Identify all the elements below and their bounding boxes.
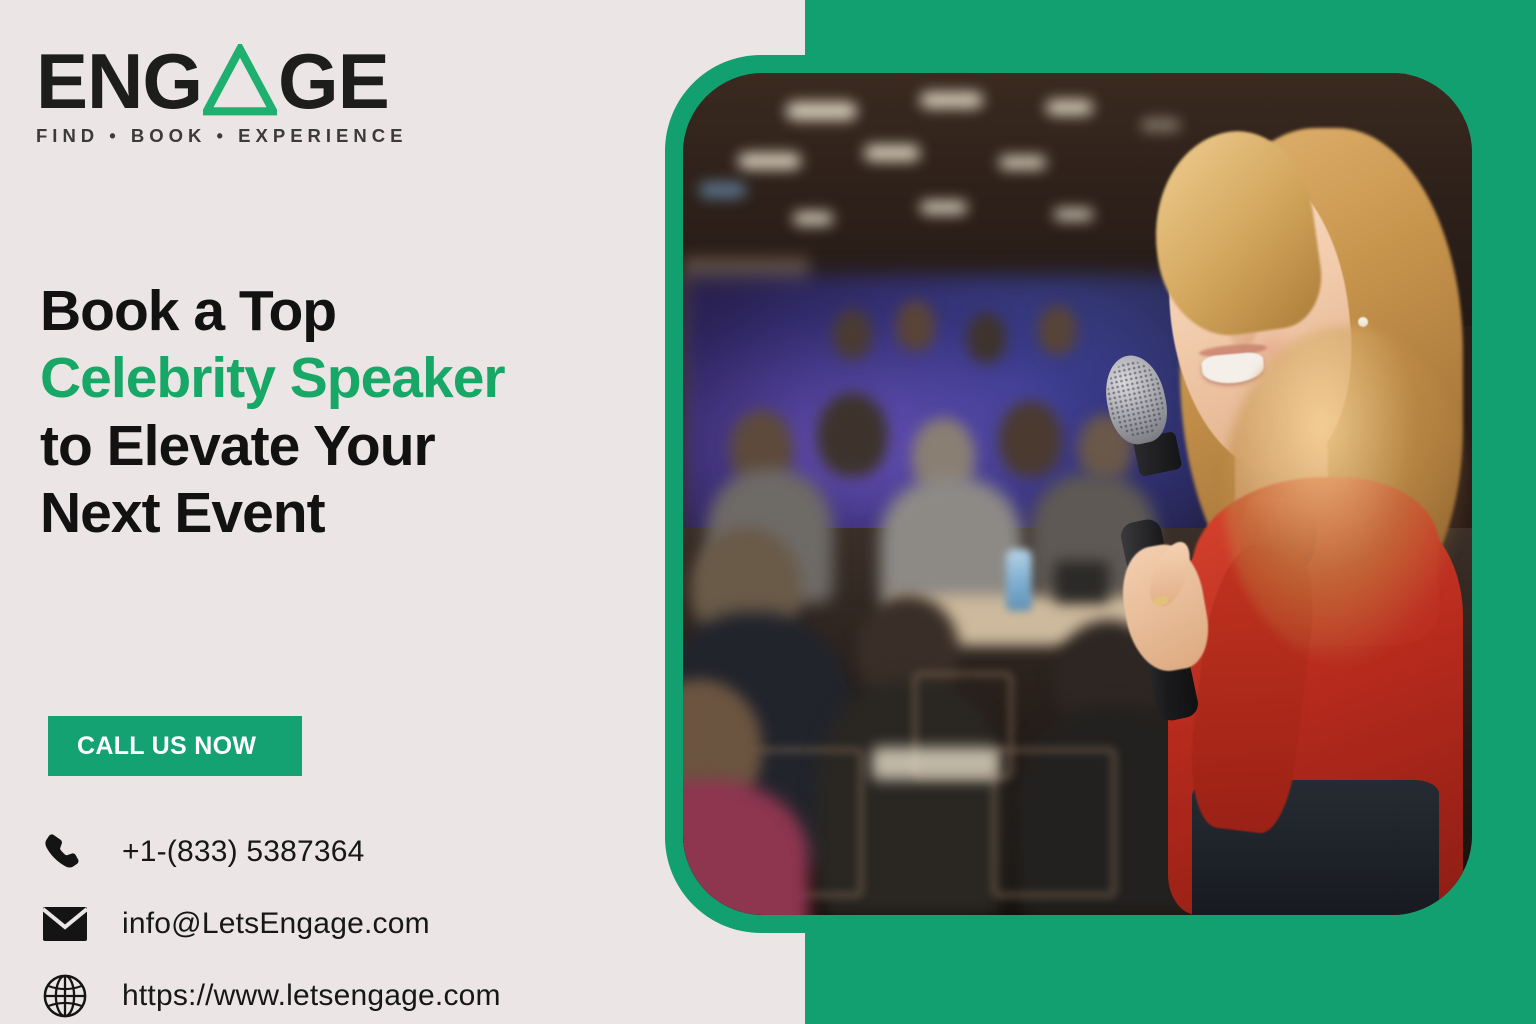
earring <box>1358 317 1368 327</box>
contact-list: +1-(833) 5387364 info@LetsEngage.com <box>42 816 501 1024</box>
logo-wordmark: ENG GE <box>36 44 407 118</box>
left-content: ENG GE FIND • BOOK • EXPERIENCE Book a T… <box>0 0 805 1024</box>
hair-waves <box>1223 326 1469 663</box>
headline-line-1: Book a Top <box>40 278 505 345</box>
promo-banner: ENG GE FIND • BOOK • EXPERIENCE Book a T… <box>0 0 1536 1024</box>
call-us-now-button[interactable]: CALL US NOW <box>48 716 302 776</box>
phone-icon <box>42 829 94 875</box>
phone-number: +1-(833) 5387364 <box>122 835 365 869</box>
headline: Book a Top Celebrity Speaker to Elevate … <box>40 278 505 547</box>
contact-email-row[interactable]: info@LetsEngage.com <box>42 888 501 960</box>
contact-phone-row[interactable]: +1-(833) 5387364 <box>42 816 501 888</box>
headline-line-4: Next Event <box>40 480 505 547</box>
logo-text-ge: GE <box>278 44 389 118</box>
logo-text-eng: ENG <box>36 44 202 118</box>
contact-website-row[interactable]: https://www.letsengage.com <box>42 960 501 1024</box>
email-address: info@LetsEngage.com <box>122 907 430 941</box>
headline-line-2: Celebrity Speaker <box>40 345 505 412</box>
logo-tagline: FIND • BOOK • EXPERIENCE <box>36 125 407 147</box>
engage-logo: ENG GE FIND • BOOK • EXPERIENCE <box>36 44 407 147</box>
website-url: https://www.letsengage.com <box>122 979 501 1013</box>
envelope-icon <box>42 901 94 947</box>
headline-line-3: to Elevate Your <box>40 413 505 480</box>
speaker-figure <box>872 73 1472 915</box>
globe-icon <box>42 973 94 1019</box>
triangle-a-logo-icon <box>203 44 277 118</box>
